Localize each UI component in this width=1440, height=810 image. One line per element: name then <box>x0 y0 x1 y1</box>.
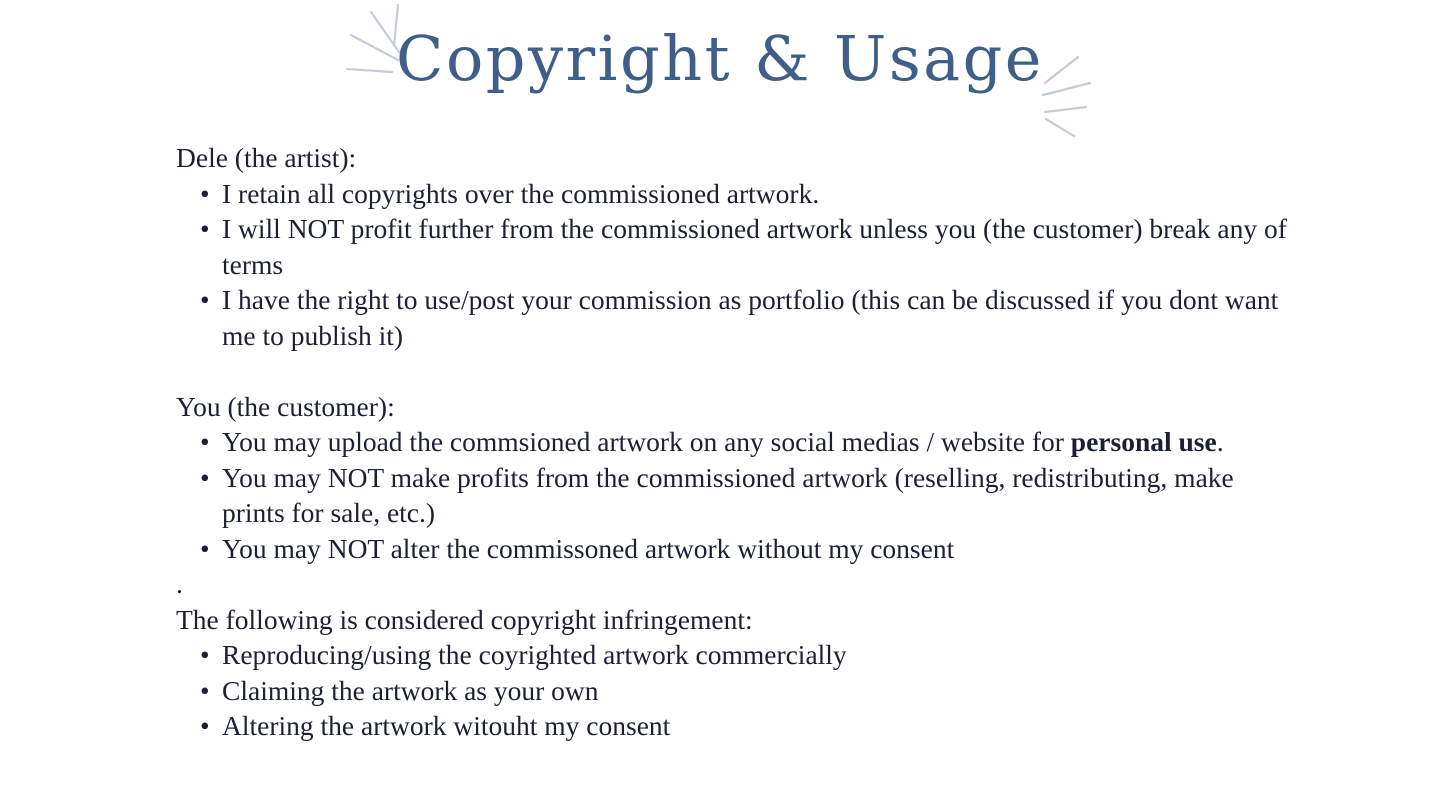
list-item: Altering the artwork witouht my consent <box>176 708 1296 744</box>
section-heading-customer: You (the customer): <box>176 389 1296 425</box>
section-infringement: . The following is considered copyright … <box>176 566 1296 744</box>
bullet-list-artist: I retain all copyrights over the commiss… <box>176 176 1296 354</box>
list-item: You may NOT alter the commissoned artwor… <box>176 531 1296 567</box>
list-item-text-before: You may upload the commsioned artwork on… <box>222 426 1071 457</box>
slide-header: Copyright & Usage <box>0 0 1440 140</box>
page-title: Copyright & Usage <box>0 26 1440 91</box>
list-item: You may NOT make profits from the commis… <box>176 460 1296 531</box>
section-heading-infringement: The following is considered copyright in… <box>176 602 1296 638</box>
spacer <box>176 353 1296 389</box>
list-item: Claiming the artwork as your own <box>176 673 1296 709</box>
list-item: I will NOT profit further from the commi… <box>176 211 1296 282</box>
list-item: Reproducing/using the coyrighted artwork… <box>176 637 1296 673</box>
bullet-list-infringement: Reproducing/using the coyrighted artwork… <box>176 637 1296 744</box>
section-heading-artist: Dele (the artist): <box>176 140 1296 176</box>
list-item: I have the right to use/post your commis… <box>176 282 1296 353</box>
list-item-text-emphasis: personal use <box>1071 426 1217 457</box>
stray-period: . <box>176 566 1296 602</box>
bullet-list-customer: You may upload the commsioned artwork on… <box>176 424 1296 566</box>
list-item: I retain all copyrights over the commiss… <box>176 176 1296 212</box>
list-item-text-after: . <box>1217 426 1224 457</box>
list-item: You may upload the commsioned artwork on… <box>176 424 1296 460</box>
section-artist: Dele (the artist): I retain all copyrigh… <box>176 140 1296 353</box>
document-body: Dele (the artist): I retain all copyrigh… <box>176 140 1296 744</box>
section-customer: You (the customer): You may upload the c… <box>176 389 1296 567</box>
